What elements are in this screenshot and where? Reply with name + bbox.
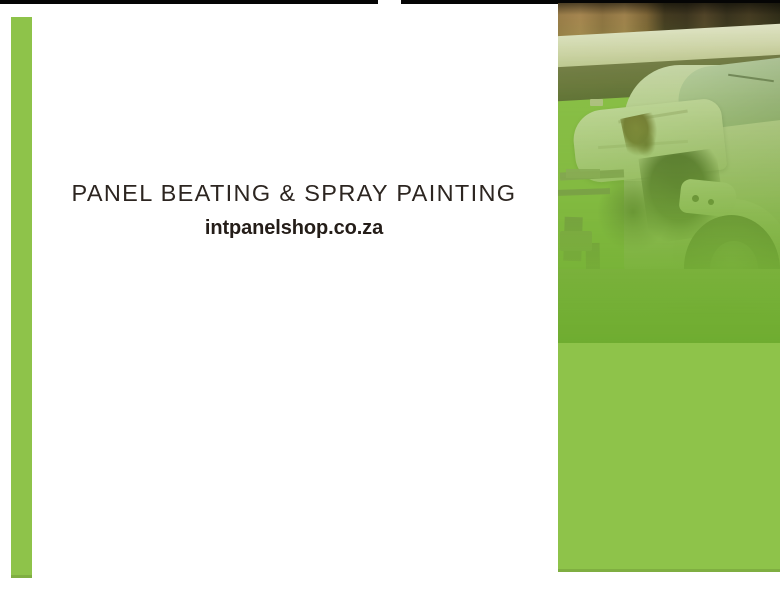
image-panel [558,3,780,572]
top-rule-left-segment [0,0,378,4]
presentation-slide: PANEL BEATING & SPRAY PAINTING intpanels… [0,0,780,606]
page-title: PANEL BEATING & SPRAY PAINTING [34,180,554,207]
green-duotone-overlay-multiply [558,3,780,343]
left-green-accent-bar [11,17,32,578]
website-url-text: intpanelshop.co.za [34,217,554,240]
headline-block: PANEL BEATING & SPRAY PAINTING intpanels… [34,180,554,240]
workshop-car-photo [558,3,780,343]
